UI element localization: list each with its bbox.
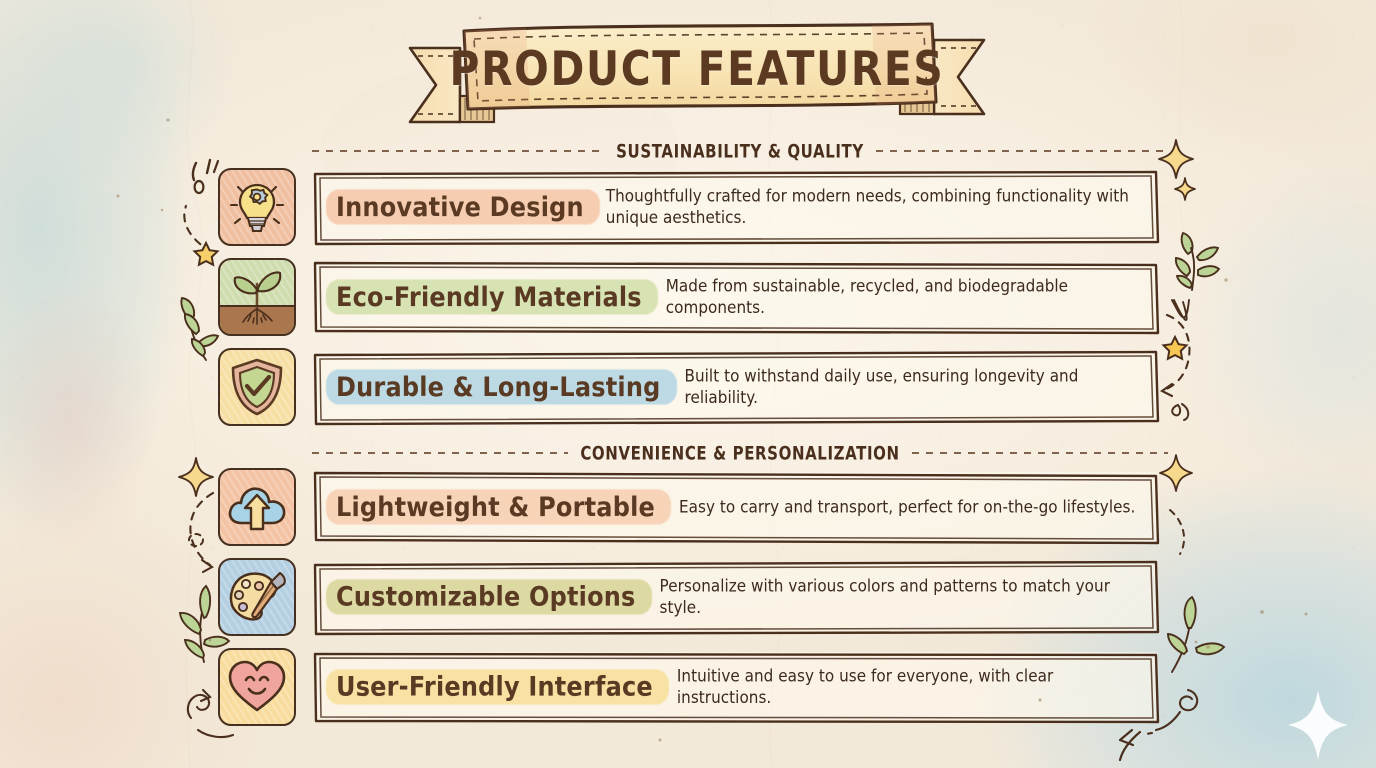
sparkle-small-right-upper: [1175, 178, 1195, 200]
scribble-marks-top-left: [193, 160, 218, 193]
section-rule-right: [876, 150, 1168, 152]
feature-description: Made from sustainable, recycled, and bio…: [652, 275, 1142, 319]
feature-description: Built to withstand daily use, ensuring l…: [671, 365, 1142, 409]
infographic-page: PRODUCT FEATURES SUSTAINABILITY & QUALIT…: [0, 0, 1376, 768]
section-header-convenience: CONVENIENCE & PERSONALIZATION: [312, 442, 1168, 464]
feature-card[interactable]: Innovative Design Thoughtfully crafted f…: [314, 172, 1158, 242]
section-rule-left: [312, 150, 604, 152]
sprout-soil-icon: [218, 258, 296, 336]
palette-brush-icon: [218, 558, 296, 636]
lightbulb-gear-icon: [218, 168, 296, 246]
leaf-sprig-right-upper: [1170, 233, 1219, 321]
dashed-arrow-right-middle: [1162, 315, 1189, 396]
sparkle-left-lower: [179, 458, 213, 496]
curl-right-lower: [1170, 510, 1184, 554]
section-rule-right: [912, 452, 1168, 454]
section-title: SUSTAINABILITY & QUALITY: [616, 140, 864, 163]
feature-description: Intuitive and easy to use for everyone, …: [663, 665, 1142, 709]
leaf-sprig-right-lower: [1168, 597, 1224, 672]
feature-row[interactable]: Innovative Design Thoughtfully crafted f…: [218, 168, 1158, 246]
section-rule-left: [312, 452, 568, 454]
feature-title: Innovative Design: [328, 189, 594, 225]
feature-card[interactable]: User-Friendly Interface Intuitive and ea…: [314, 652, 1158, 722]
leaf-sprig-left-upper: [181, 298, 218, 360]
feature-card[interactable]: Lightweight & Portable Easy to carry and…: [314, 472, 1158, 542]
feature-row[interactable]: Customizable Options Personalize with va…: [218, 558, 1158, 636]
feature-description: Personalize with various colors and patt…: [646, 575, 1142, 619]
feature-row[interactable]: Eco-Friendly Materials Made from sustain…: [218, 258, 1158, 336]
feature-row[interactable]: Lightweight & Portable Easy to carry and…: [218, 468, 1158, 546]
feature-title: User-Friendly Interface: [328, 669, 663, 705]
title-banner: PRODUCT FEATURES: [402, 18, 992, 128]
dashed-arrow-left-lower: [189, 493, 213, 572]
feature-card[interactable]: Durable & Long-Lasting Built to withstan…: [314, 352, 1158, 422]
section-title: CONVENIENCE & PERSONALIZATION: [580, 442, 899, 465]
feature-title: Eco-Friendly Materials: [328, 279, 652, 315]
feature-description: Thoughtfully crafted for modern needs, c…: [594, 185, 1142, 229]
feature-row[interactable]: Durable & Long-Lasting Built to withstan…: [218, 348, 1158, 426]
curl-right-middle: [1172, 404, 1188, 420]
feature-card[interactable]: Customizable Options Personalize with va…: [314, 562, 1158, 632]
feature-description: Easy to carry and transport, perfect for…: [665, 496, 1142, 518]
star-right-middle: [1164, 337, 1187, 359]
white-sparkle-bottom-right: [1288, 690, 1348, 760]
feature-row[interactable]: User-Friendly Interface Intuitive and ea…: [218, 648, 1158, 726]
feature-title: Lightweight & Portable: [328, 489, 665, 525]
smiling-heart-icon: [218, 648, 296, 726]
section-header-sustainability: SUSTAINABILITY & QUALITY: [312, 140, 1168, 162]
page-title: PRODUCT FEATURES: [396, 8, 998, 138]
arrow-bottom-center: [1120, 730, 1140, 760]
star-left-upper: [195, 243, 218, 265]
cloud-upload-icon: [218, 468, 296, 546]
shield-check-icon: [218, 348, 296, 426]
dashed-curve-left-upper: [184, 206, 212, 252]
feature-title: Customizable Options: [328, 579, 646, 615]
feature-card[interactable]: Eco-Friendly Materials Made from sustain…: [314, 262, 1158, 332]
feature-title: Durable & Long-Lasting: [328, 369, 671, 405]
